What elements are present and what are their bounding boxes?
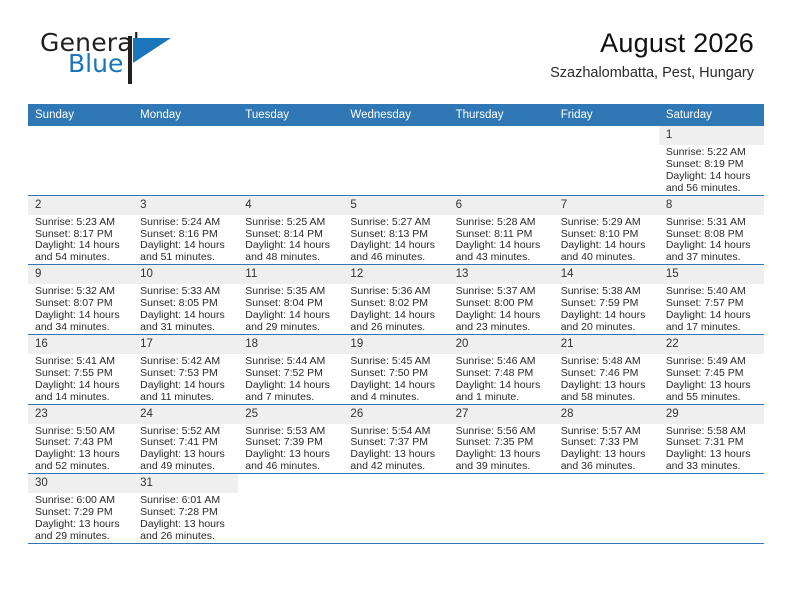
daylight-text-line2: and 31 minutes. (140, 322, 232, 334)
calendar-day-cell[interactable]: 29Sunrise: 5:58 AMSunset: 7:31 PMDayligh… (659, 404, 764, 474)
sunrise-text: Sunrise: 5:42 AM (140, 356, 232, 368)
day-cell-inner (449, 474, 554, 543)
day-number: 21 (554, 335, 659, 354)
day-sun-info: Sunrise: 5:45 AMSunset: 7:50 PMDaylight:… (343, 354, 448, 404)
calendar-day-cell[interactable]: 24Sunrise: 5:52 AMSunset: 7:41 PMDayligh… (133, 404, 238, 474)
calendar-day-cell[interactable]: 3Sunrise: 5:24 AMSunset: 8:16 PMDaylight… (133, 195, 238, 265)
daylight-text-line2: and 42 minutes. (350, 461, 442, 473)
sunrise-text: Sunrise: 5:28 AM (456, 217, 548, 229)
day-cell-inner: 22Sunrise: 5:49 AMSunset: 7:45 PMDayligh… (659, 335, 764, 404)
day-number (449, 474, 554, 493)
day-cell-inner (343, 126, 448, 195)
day-number: 12 (343, 265, 448, 284)
calendar-day-cell[interactable]: 13Sunrise: 5:37 AMSunset: 8:00 PMDayligh… (449, 265, 554, 335)
calendar-page: General Blue August 2026 Szazhalombatta,… (0, 0, 792, 612)
day-number: 17 (133, 335, 238, 354)
day-cell-inner: 29Sunrise: 5:58 AMSunset: 7:31 PMDayligh… (659, 405, 764, 474)
daylight-text-line2: and 36 minutes. (561, 461, 653, 473)
daylight-text-line2: and 55 minutes. (666, 392, 758, 404)
calendar-day-cell[interactable]: 21Sunrise: 5:48 AMSunset: 7:46 PMDayligh… (554, 334, 659, 404)
sunset-text: Sunset: 7:48 PM (456, 368, 548, 380)
day-number: 10 (133, 265, 238, 284)
day-sun-info: Sunrise: 5:28 AMSunset: 8:11 PMDaylight:… (449, 215, 554, 265)
day-number (449, 126, 554, 145)
page-title: August 2026 (550, 26, 754, 60)
calendar-day-cell (554, 126, 659, 195)
triangle-flag-icon (133, 38, 171, 63)
daylight-text-line2: and 29 minutes. (35, 531, 127, 543)
calendar-day-cell[interactable]: 1Sunrise: 5:22 AMSunset: 8:19 PMDaylight… (659, 126, 764, 195)
sunrise-text: Sunrise: 5:48 AM (561, 356, 653, 368)
weekday-header-thursday: Thursday (449, 104, 554, 126)
day-cell-inner: 1Sunrise: 5:22 AMSunset: 8:19 PMDaylight… (659, 126, 764, 195)
daylight-text-line2: and 43 minutes. (456, 252, 548, 264)
day-number: 26 (343, 405, 448, 424)
sunrise-text: Sunrise: 5:31 AM (666, 217, 758, 229)
daylight-text-line1: Daylight: 14 hours (35, 380, 127, 392)
day-cell-inner: 23Sunrise: 5:50 AMSunset: 7:43 PMDayligh… (28, 405, 133, 474)
day-sun-info: Sunrise: 5:57 AMSunset: 7:33 PMDaylight:… (554, 424, 659, 474)
day-sun-info: Sunrise: 5:25 AMSunset: 8:14 PMDaylight:… (238, 215, 343, 265)
weekday-header-sunday: Sunday (28, 104, 133, 126)
day-cell-inner (238, 474, 343, 543)
day-number: 24 (133, 405, 238, 424)
location-subtitle: Szazhalombatta, Pest, Hungary (550, 62, 754, 84)
daylight-text-line2: and 26 minutes. (350, 322, 442, 334)
day-sun-info: Sunrise: 5:56 AMSunset: 7:35 PMDaylight:… (449, 424, 554, 474)
day-number: 19 (343, 335, 448, 354)
day-number (238, 474, 343, 493)
daylight-text-line2: and 56 minutes. (666, 183, 758, 195)
day-number: 20 (449, 335, 554, 354)
day-sun-info: Sunrise: 5:52 AMSunset: 7:41 PMDaylight:… (133, 424, 238, 474)
daylight-text-line1: Daylight: 14 hours (245, 380, 337, 392)
daylight-text-line2: and 23 minutes. (456, 322, 548, 334)
title-block: August 2026 Szazhalombatta, Pest, Hungar… (550, 26, 754, 84)
calendar-day-cell[interactable]: 7Sunrise: 5:29 AMSunset: 8:10 PMDaylight… (554, 195, 659, 265)
day-cell-inner: 6Sunrise: 5:28 AMSunset: 8:11 PMDaylight… (449, 196, 554, 265)
day-number: 14 (554, 265, 659, 284)
day-number: 2 (28, 196, 133, 215)
daylight-text-line2: and 58 minutes. (561, 392, 653, 404)
calendar-day-cell (343, 126, 448, 195)
daylight-text-line2: and 34 minutes. (35, 322, 127, 334)
calendar-day-cell[interactable]: 4Sunrise: 5:25 AMSunset: 8:14 PMDaylight… (238, 195, 343, 265)
day-cell-inner: 10Sunrise: 5:33 AMSunset: 8:05 PMDayligh… (133, 265, 238, 334)
calendar-day-cell[interactable]: 11Sunrise: 5:35 AMSunset: 8:04 PMDayligh… (238, 265, 343, 335)
day-sun-info: Sunrise: 6:01 AMSunset: 7:28 PMDaylight:… (133, 493, 238, 543)
day-cell-inner: 11Sunrise: 5:35 AMSunset: 8:04 PMDayligh… (238, 265, 343, 334)
calendar-day-cell[interactable]: 30Sunrise: 6:00 AMSunset: 7:29 PMDayligh… (28, 474, 133, 544)
sunrise-text: Sunrise: 5:27 AM (350, 217, 442, 229)
sunrise-text: Sunrise: 5:44 AM (245, 356, 337, 368)
day-sun-info: Sunrise: 5:53 AMSunset: 7:39 PMDaylight:… (238, 424, 343, 474)
sunset-text: Sunset: 7:52 PM (245, 368, 337, 380)
day-sun-info: Sunrise: 5:48 AMSunset: 7:46 PMDaylight:… (554, 354, 659, 404)
day-cell-inner: 9Sunrise: 5:32 AMSunset: 8:07 PMDaylight… (28, 265, 133, 334)
calendar-day-cell[interactable]: 14Sunrise: 5:38 AMSunset: 7:59 PMDayligh… (554, 265, 659, 335)
daylight-text-line2: and 11 minutes. (140, 392, 232, 404)
day-cell-inner: 21Sunrise: 5:48 AMSunset: 7:46 PMDayligh… (554, 335, 659, 404)
day-number: 29 (659, 405, 764, 424)
day-sun-info: Sunrise: 5:29 AMSunset: 8:10 PMDaylight:… (554, 215, 659, 265)
day-sun-info: Sunrise: 5:27 AMSunset: 8:13 PMDaylight:… (343, 215, 448, 265)
day-cell-inner: 27Sunrise: 5:56 AMSunset: 7:35 PMDayligh… (449, 405, 554, 474)
calendar-week-row: 9Sunrise: 5:32 AMSunset: 8:07 PMDaylight… (28, 265, 764, 335)
calendar-day-cell[interactable]: 18Sunrise: 5:44 AMSunset: 7:52 PMDayligh… (238, 334, 343, 404)
day-sun-info: Sunrise: 5:22 AMSunset: 8:19 PMDaylight:… (659, 145, 764, 195)
day-sun-info: Sunrise: 5:41 AMSunset: 7:55 PMDaylight:… (28, 354, 133, 404)
day-sun-info: Sunrise: 5:46 AMSunset: 7:48 PMDaylight:… (449, 354, 554, 404)
daylight-text-line2: and 51 minutes. (140, 252, 232, 264)
sunrise-text: Sunrise: 5:45 AM (350, 356, 442, 368)
day-number: 13 (449, 265, 554, 284)
calendar-day-cell (28, 126, 133, 195)
day-cell-inner: 14Sunrise: 5:38 AMSunset: 7:59 PMDayligh… (554, 265, 659, 334)
daylight-text-line2: and 4 minutes. (350, 392, 442, 404)
calendar-day-cell[interactable]: 23Sunrise: 5:50 AMSunset: 7:43 PMDayligh… (28, 404, 133, 474)
day-cell-inner (238, 126, 343, 195)
calendar-day-cell (238, 474, 343, 544)
calendar-day-cell[interactable]: 31Sunrise: 6:01 AMSunset: 7:28 PMDayligh… (133, 474, 238, 544)
calendar-day-cell[interactable]: 2Sunrise: 5:23 AMSunset: 8:17 PMDaylight… (28, 195, 133, 265)
day-cell-inner (133, 126, 238, 195)
day-sun-info: Sunrise: 5:37 AMSunset: 8:00 PMDaylight:… (449, 284, 554, 334)
day-number: 1 (659, 126, 764, 145)
day-number: 15 (659, 265, 764, 284)
calendar-week-row: 23Sunrise: 5:50 AMSunset: 7:43 PMDayligh… (28, 404, 764, 474)
calendar-day-cell (133, 126, 238, 195)
daylight-text-line2: and 54 minutes. (35, 252, 127, 264)
calendar-day-cell[interactable]: 19Sunrise: 5:45 AMSunset: 7:50 PMDayligh… (343, 334, 448, 404)
day-cell-inner (343, 474, 448, 543)
page-header: General Blue August 2026 Szazhalombatta,… (28, 26, 768, 98)
day-number: 5 (343, 196, 448, 215)
weekday-header-row: Sunday Monday Tuesday Wednesday Thursday… (28, 104, 764, 126)
calendar-day-cell[interactable]: 8Sunrise: 5:31 AMSunset: 8:08 PMDaylight… (659, 195, 764, 265)
day-number (343, 126, 448, 145)
day-number: 11 (238, 265, 343, 284)
sunrise-text: Sunrise: 5:41 AM (35, 356, 127, 368)
daylight-text-line2: and 33 minutes. (666, 461, 758, 473)
sunrise-text: Sunrise: 5:24 AM (140, 217, 232, 229)
day-cell-inner: 30Sunrise: 6:00 AMSunset: 7:29 PMDayligh… (28, 474, 133, 543)
calendar-day-cell[interactable]: 27Sunrise: 5:56 AMSunset: 7:35 PMDayligh… (449, 404, 554, 474)
day-number: 16 (28, 335, 133, 354)
calendar-day-cell[interactable]: 28Sunrise: 5:57 AMSunset: 7:33 PMDayligh… (554, 404, 659, 474)
day-sun-info: Sunrise: 5:24 AMSunset: 8:16 PMDaylight:… (133, 215, 238, 265)
sunrise-text: Sunrise: 5:46 AM (456, 356, 548, 368)
day-sun-info: Sunrise: 5:42 AMSunset: 7:53 PMDaylight:… (133, 354, 238, 404)
day-cell-inner: 8Sunrise: 5:31 AMSunset: 8:08 PMDaylight… (659, 196, 764, 265)
day-cell-inner: 25Sunrise: 5:53 AMSunset: 7:39 PMDayligh… (238, 405, 343, 474)
day-sun-info: Sunrise: 5:31 AMSunset: 8:08 PMDaylight:… (659, 215, 764, 265)
daylight-text-line2: and 1 minute. (456, 392, 548, 404)
daylight-text-line2: and 14 minutes. (35, 392, 127, 404)
weekday-header-monday: Monday (133, 104, 238, 126)
daylight-text-line2: and 20 minutes. (561, 322, 653, 334)
day-number (133, 126, 238, 145)
calendar-day-cell[interactable]: 9Sunrise: 5:32 AMSunset: 8:07 PMDaylight… (28, 265, 133, 335)
weekday-header-tuesday: Tuesday (238, 104, 343, 126)
day-sun-info: Sunrise: 5:35 AMSunset: 8:04 PMDaylight:… (238, 284, 343, 334)
calendar-day-cell[interactable]: 5Sunrise: 5:27 AMSunset: 8:13 PMDaylight… (343, 195, 448, 265)
day-cell-inner: 7Sunrise: 5:29 AMSunset: 8:10 PMDaylight… (554, 196, 659, 265)
day-cell-inner (28, 126, 133, 195)
day-cell-inner: 24Sunrise: 5:52 AMSunset: 7:41 PMDayligh… (133, 405, 238, 474)
day-sun-info: Sunrise: 5:54 AMSunset: 7:37 PMDaylight:… (343, 424, 448, 474)
daylight-text-line1: Daylight: 13 hours (666, 380, 758, 392)
brand-divider-bar (128, 36, 132, 84)
day-cell-inner: 19Sunrise: 5:45 AMSunset: 7:50 PMDayligh… (343, 335, 448, 404)
day-cell-inner: 12Sunrise: 5:36 AMSunset: 8:02 PMDayligh… (343, 265, 448, 334)
day-cell-inner: 16Sunrise: 5:41 AMSunset: 7:55 PMDayligh… (28, 335, 133, 404)
weekday-header-friday: Friday (554, 104, 659, 126)
brand-logo[interactable]: General Blue (40, 30, 230, 86)
day-sun-info: Sunrise: 5:38 AMSunset: 7:59 PMDaylight:… (554, 284, 659, 334)
sunrise-text: Sunrise: 5:29 AM (561, 217, 653, 229)
day-number (554, 126, 659, 145)
day-cell-inner: 26Sunrise: 5:54 AMSunset: 7:37 PMDayligh… (343, 405, 448, 474)
day-number (343, 474, 448, 493)
daylight-text-line2: and 26 minutes. (140, 531, 232, 543)
sunrise-text: Sunrise: 5:23 AM (35, 217, 127, 229)
weekday-header-wednesday: Wednesday (343, 104, 448, 126)
day-cell-inner (659, 474, 764, 543)
day-sun-info: Sunrise: 5:33 AMSunset: 8:05 PMDaylight:… (133, 284, 238, 334)
day-number: 22 (659, 335, 764, 354)
day-cell-inner: 18Sunrise: 5:44 AMSunset: 7:52 PMDayligh… (238, 335, 343, 404)
sunset-text: Sunset: 7:50 PM (350, 368, 442, 380)
daylight-text-line2: and 7 minutes. (245, 392, 337, 404)
sunrise-text: Sunrise: 5:49 AM (666, 356, 758, 368)
day-cell-inner: 13Sunrise: 5:37 AMSunset: 8:00 PMDayligh… (449, 265, 554, 334)
daylight-text-line1: Daylight: 13 hours (561, 380, 653, 392)
daylight-text-line2: and 46 minutes. (245, 461, 337, 473)
day-cell-inner: 31Sunrise: 6:01 AMSunset: 7:28 PMDayligh… (133, 474, 238, 543)
calendar-day-cell (659, 474, 764, 544)
daylight-text-line2: and 29 minutes. (245, 322, 337, 334)
day-number: 23 (28, 405, 133, 424)
sunset-text: Sunset: 7:46 PM (561, 368, 653, 380)
calendar-day-cell (554, 474, 659, 544)
day-number (659, 474, 764, 493)
day-cell-inner: 20Sunrise: 5:46 AMSunset: 7:48 PMDayligh… (449, 335, 554, 404)
calendar-day-cell[interactable]: 25Sunrise: 5:53 AMSunset: 7:39 PMDayligh… (238, 404, 343, 474)
day-number: 28 (554, 405, 659, 424)
calendar-table: Sunday Monday Tuesday Wednesday Thursday… (28, 104, 764, 544)
day-cell-inner (554, 126, 659, 195)
day-number (554, 474, 659, 493)
calendar-day-cell (343, 474, 448, 544)
calendar-day-cell (449, 474, 554, 544)
day-sun-info: Sunrise: 5:44 AMSunset: 7:52 PMDaylight:… (238, 354, 343, 404)
sunset-text: Sunset: 7:45 PM (666, 368, 758, 380)
daylight-text-line2: and 52 minutes. (35, 461, 127, 473)
daylight-text-line2: and 48 minutes. (245, 252, 337, 264)
daylight-text-line1: Daylight: 14 hours (140, 380, 232, 392)
calendar-day-cell (449, 126, 554, 195)
calendar-day-cell[interactable]: 15Sunrise: 5:40 AMSunset: 7:57 PMDayligh… (659, 265, 764, 335)
day-number (238, 126, 343, 145)
day-cell-inner (554, 474, 659, 543)
day-sun-info: Sunrise: 5:36 AMSunset: 8:02 PMDaylight:… (343, 284, 448, 334)
day-cell-inner: 15Sunrise: 5:40 AMSunset: 7:57 PMDayligh… (659, 265, 764, 334)
day-cell-inner: 17Sunrise: 5:42 AMSunset: 7:53 PMDayligh… (133, 335, 238, 404)
day-number: 6 (449, 196, 554, 215)
calendar-day-cell[interactable]: 6Sunrise: 5:28 AMSunset: 8:11 PMDaylight… (449, 195, 554, 265)
calendar-day-cell[interactable]: 16Sunrise: 5:41 AMSunset: 7:55 PMDayligh… (28, 334, 133, 404)
calendar-day-cell[interactable]: 10Sunrise: 5:33 AMSunset: 8:05 PMDayligh… (133, 265, 238, 335)
daylight-text-line1: Daylight: 14 hours (666, 171, 758, 183)
sunrise-text: Sunrise: 5:25 AM (245, 217, 337, 229)
day-sun-info: Sunrise: 6:00 AMSunset: 7:29 PMDaylight:… (28, 493, 133, 543)
day-cell-inner: 4Sunrise: 5:25 AMSunset: 8:14 PMDaylight… (238, 196, 343, 265)
day-number: 31 (133, 474, 238, 493)
day-number: 7 (554, 196, 659, 215)
daylight-text-line2: and 17 minutes. (666, 322, 758, 334)
sunset-text: Sunset: 7:55 PM (35, 368, 127, 380)
weekday-header-saturday: Saturday (659, 104, 764, 126)
day-sun-info: Sunrise: 5:32 AMSunset: 8:07 PMDaylight:… (28, 284, 133, 334)
day-cell-inner (449, 126, 554, 195)
day-sun-info: Sunrise: 5:58 AMSunset: 7:31 PMDaylight:… (659, 424, 764, 474)
calendar-week-row: 16Sunrise: 5:41 AMSunset: 7:55 PMDayligh… (28, 334, 764, 404)
day-sun-info: Sunrise: 5:49 AMSunset: 7:45 PMDaylight:… (659, 354, 764, 404)
day-sun-info: Sunrise: 5:50 AMSunset: 7:43 PMDaylight:… (28, 424, 133, 474)
daylight-text-line2: and 49 minutes. (140, 461, 232, 473)
daylight-text-line1: Daylight: 14 hours (350, 380, 442, 392)
calendar-week-row: 1Sunrise: 5:22 AMSunset: 8:19 PMDaylight… (28, 126, 764, 195)
day-cell-inner: 3Sunrise: 5:24 AMSunset: 8:16 PMDaylight… (133, 196, 238, 265)
calendar-day-cell[interactable]: 20Sunrise: 5:46 AMSunset: 7:48 PMDayligh… (449, 334, 554, 404)
day-cell-inner: 5Sunrise: 5:27 AMSunset: 8:13 PMDaylight… (343, 196, 448, 265)
day-number: 27 (449, 405, 554, 424)
day-cell-inner: 28Sunrise: 5:57 AMSunset: 7:33 PMDayligh… (554, 405, 659, 474)
day-number: 8 (659, 196, 764, 215)
daylight-text-line1: Daylight: 14 hours (456, 380, 548, 392)
calendar-body: 1Sunrise: 5:22 AMSunset: 8:19 PMDaylight… (28, 126, 764, 543)
day-number (28, 126, 133, 145)
day-number: 18 (238, 335, 343, 354)
calendar-week-row: 30Sunrise: 6:00 AMSunset: 7:29 PMDayligh… (28, 474, 764, 544)
day-number: 3 (133, 196, 238, 215)
day-sun-info: Sunrise: 5:40 AMSunset: 7:57 PMDaylight:… (659, 284, 764, 334)
calendar-day-cell (238, 126, 343, 195)
day-number: 9 (28, 265, 133, 284)
calendar-week-row: 2Sunrise: 5:23 AMSunset: 8:17 PMDaylight… (28, 195, 764, 265)
calendar-day-cell[interactable]: 22Sunrise: 5:49 AMSunset: 7:45 PMDayligh… (659, 334, 764, 404)
calendar-day-cell[interactable]: 17Sunrise: 5:42 AMSunset: 7:53 PMDayligh… (133, 334, 238, 404)
daylight-text-line2: and 39 minutes. (456, 461, 548, 473)
daylight-text-line2: and 40 minutes. (561, 252, 653, 264)
day-cell-inner: 2Sunrise: 5:23 AMSunset: 8:17 PMDaylight… (28, 196, 133, 265)
calendar-day-cell[interactable]: 12Sunrise: 5:36 AMSunset: 8:02 PMDayligh… (343, 265, 448, 335)
day-number: 4 (238, 196, 343, 215)
day-number: 30 (28, 474, 133, 493)
day-number: 25 (238, 405, 343, 424)
daylight-text-line2: and 46 minutes. (350, 252, 442, 264)
calendar-day-cell[interactable]: 26Sunrise: 5:54 AMSunset: 7:37 PMDayligh… (343, 404, 448, 474)
sunset-text: Sunset: 7:53 PM (140, 368, 232, 380)
daylight-text-line2: and 37 minutes. (666, 252, 758, 264)
day-sun-info: Sunrise: 5:23 AMSunset: 8:17 PMDaylight:… (28, 215, 133, 265)
